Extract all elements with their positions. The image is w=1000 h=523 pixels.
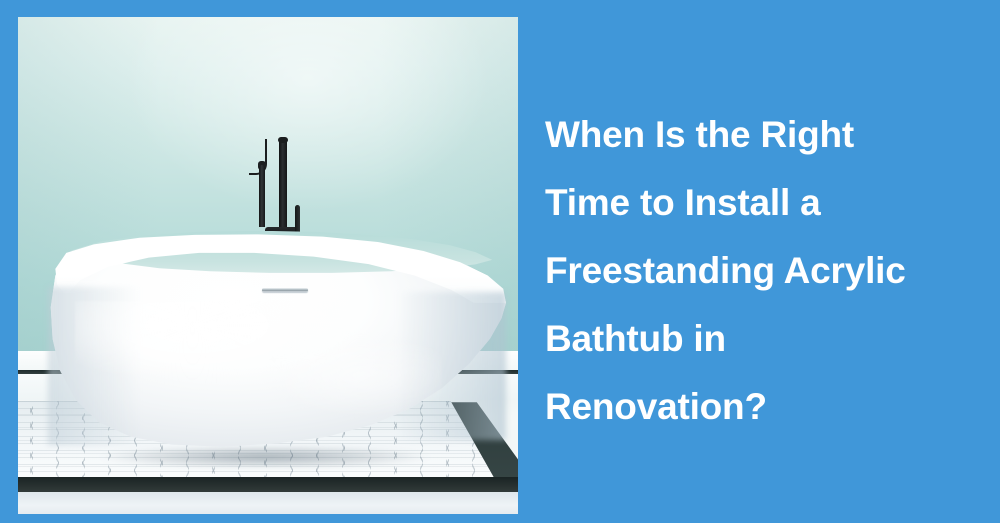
headline-line-5: Renovation?: [545, 373, 985, 441]
blog-hero-banner: When Is the Right Time to Install a Free…: [0, 0, 1000, 523]
headline-line-2: Time to Install a: [545, 169, 985, 237]
faucet-spout-cap: [278, 137, 288, 143]
headline-line-4: Bathtub in: [545, 305, 985, 373]
hero-photo: [18, 17, 518, 514]
floor-dark-plinth: [18, 477, 518, 492]
headline-line-3: Freestanding Acrylic: [545, 237, 985, 305]
shower-wand: [259, 165, 265, 227]
freestanding-bathtub: [48, 233, 506, 458]
floor-base-strip: [18, 492, 518, 514]
tub-contact-shadow: [100, 446, 430, 468]
tub-left-shading: [48, 287, 167, 445]
headline-line-1: When Is the Right: [545, 101, 985, 169]
overflow-slot-icon: [262, 288, 308, 292]
tub-right-shading: [369, 292, 506, 441]
page-title: When Is the Right Time to Install a Free…: [545, 101, 985, 441]
